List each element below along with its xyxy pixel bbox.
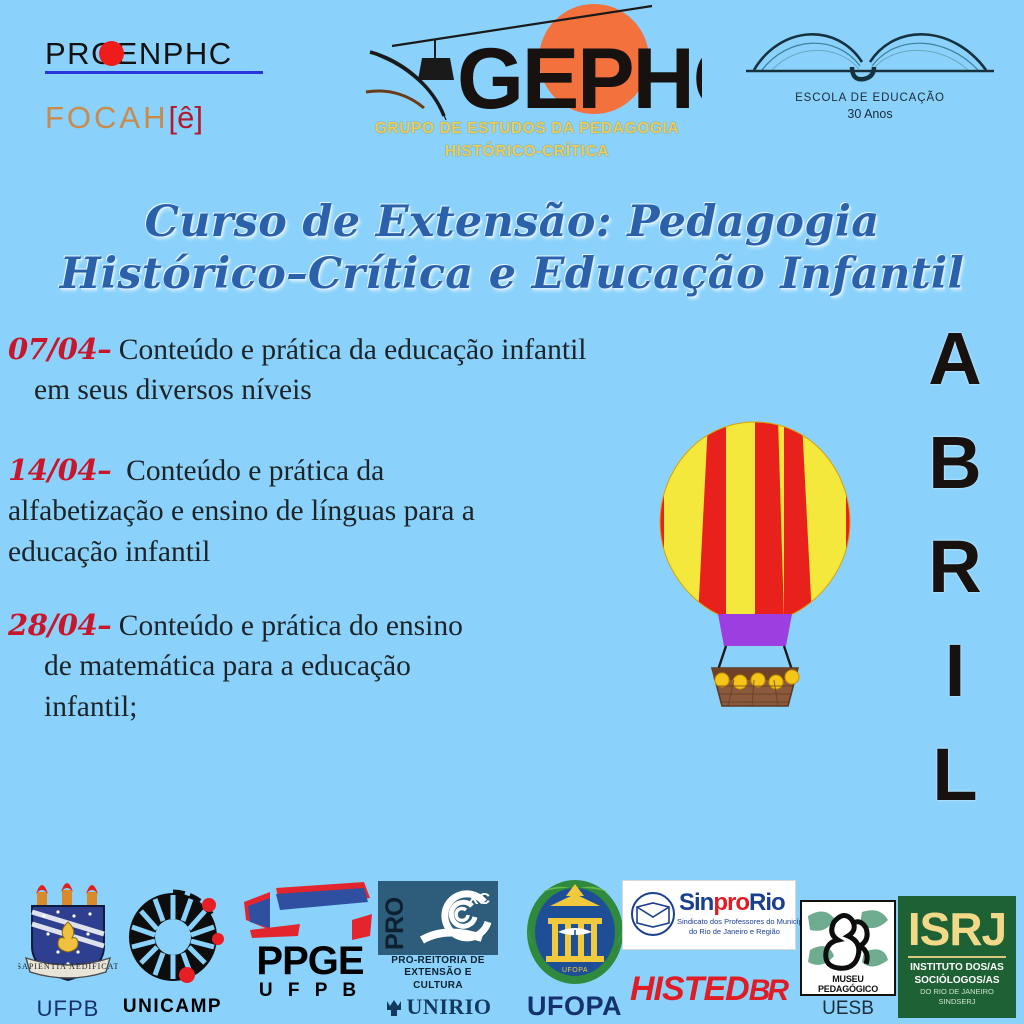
- ppge-subtitle: U F P B: [240, 980, 380, 1002]
- schedule-item: 28/04– Conteúdo e prática do ensino de m…: [8, 606, 708, 727]
- histed-wordmark: HISTEDBR: [630, 972, 790, 1006]
- proexc-caption-1: PRÓ-REITORIA DE: [378, 955, 498, 968]
- isrj-line4: SINDSERJ: [898, 997, 1016, 1007]
- sinpro-word-rio: Rio: [749, 889, 785, 916]
- schedule-text-line2: de matemática para a educação: [8, 646, 708, 686]
- schedule-text-line2: em seus diversos níveis: [8, 370, 708, 410]
- page-title: Curso de Extensão: Pedagogia Histórico–C…: [0, 196, 1024, 301]
- schedule-item: 07/04– Conteúdo e prática da educação in…: [8, 330, 708, 411]
- proexc-pro-text: PRO: [381, 897, 410, 950]
- logo-proexc-unirio: PRO XC PRÓ-REITORIA DE EXTENSÃO E CULTUR…: [378, 881, 498, 1021]
- sinpro-subtitle-2: do Rio de Janeiro e Região: [689, 927, 780, 936]
- escola-line1: ESCOLA DE EDUCAÇÃO: [740, 92, 1000, 104]
- ufpb-caption: UFPB: [18, 996, 118, 1022]
- histed-text: HISTED: [630, 970, 749, 1008]
- proenphc-text: PROENPHC: [45, 36, 233, 71]
- schedule-text-line3: educação infantil: [8, 532, 708, 572]
- unirio-crown-icon: [385, 997, 403, 1017]
- isrj-divider: [908, 956, 1006, 958]
- isrj-acronym: ISRJ: [898, 896, 1016, 952]
- poster-canvas: PROENPHC FOCAH[ê] GEPHC GRUPO DE ESTUDOS…: [0, 0, 1024, 1024]
- focah-bracket-open: [: [169, 100, 178, 135]
- schedule-date: 28/04–: [8, 608, 111, 642]
- proenphc-red-dot-icon: [99, 41, 124, 66]
- abril-letter-a: A: [928, 322, 981, 396]
- logo-histed: HISTEDBR: [630, 972, 790, 1006]
- sinpro-subtitle-1: Sindicato dos Professores do Município: [677, 917, 809, 926]
- museu-pedagogico-label: MUSEU PEDAGÓGICO: [802, 974, 894, 994]
- gephc-subtitle-line1: GRUPO DE ESTUDOS DA PEDAGOGIA: [352, 120, 702, 138]
- abril-letter-b: B: [928, 426, 981, 500]
- abril-letter-i: I: [945, 634, 966, 708]
- unirio-wordmark: UNIRIO: [378, 994, 498, 1020]
- logo-isrj: ISRJ INSTITUTO DOS/AS SOCIÓLOGOS/AS DO R…: [898, 896, 1016, 1018]
- focah-bracket-close: ]: [194, 100, 203, 135]
- sinpro-word-sin: Sin: [679, 889, 713, 916]
- unicamp-caption: UNICAMP: [110, 996, 235, 1018]
- museu-pedagogico-box: MUSEU PEDAGÓGICO: [800, 900, 896, 996]
- schedule-text-line1: Conteúdo e prática da: [126, 455, 384, 487]
- footer-logo-bar: SAPIENTIA AEDIFICAT UFPB: [0, 874, 1024, 1024]
- logo-unicamp: UNICAMP: [110, 885, 235, 1018]
- unirio-text: UNIRIO: [407, 994, 492, 1020]
- logo-ufpb: SAPIENTIA AEDIFICAT UFPB: [18, 872, 118, 1022]
- ufpb-crest-icon: SAPIENTIA AEDIFICAT: [18, 872, 118, 990]
- isrj-line2: SOCIÓLOGOS/AS: [898, 975, 1016, 988]
- month-label-abril: A B R I L: [900, 322, 1010, 842]
- schedule-item: 14/04– Conteúdo e prática da alfabetizaç…: [8, 451, 708, 572]
- hot-air-balloon-illustration: [650, 418, 860, 708]
- open-book-icon: [740, 14, 1000, 94]
- gephc-logo: GEPHC GRUPO DE ESTUDOS DA PEDAGOGIA HIST…: [352, 4, 702, 169]
- focah-text: FOCAH: [45, 100, 169, 135]
- ufopa-crest-icon: UFOPA: [520, 876, 630, 988]
- focah-logo: FOCAH[ê]: [45, 100, 270, 136]
- sinpro-book-icon: [629, 891, 677, 937]
- title-line-2: Histórico–Crítica e Educação Infantil: [0, 248, 1024, 300]
- logo-ppge-ufpb: PPGE U F P B: [240, 880, 380, 1002]
- isrj-line3: DO RIO DE JANEIRO: [898, 987, 1016, 997]
- title-line-1: Curso de Extensão: Pedagogia: [0, 196, 1024, 248]
- proexc-xc-text: XC: [468, 891, 490, 909]
- proexc-caption-2: EXTENSÃO E CULTURA: [378, 967, 498, 992]
- svg-text:UFOPA: UFOPA: [561, 967, 587, 974]
- abril-letter-l: L: [932, 738, 977, 812]
- ppge-ribbon-icon: [240, 880, 380, 942]
- schedule-date: 14/04–: [8, 453, 111, 487]
- schedule-text-line2: alfabetização e ensino de línguas para a: [8, 491, 708, 531]
- schedule-text-line3: infantil;: [8, 687, 708, 727]
- schedule-text-line1: Conteúdo e prática da educação infantil: [119, 334, 587, 366]
- isrj-line1: INSTITUTO DOS/AS: [898, 962, 1016, 975]
- isrj-box: ISRJ INSTITUTO DOS/AS SOCIÓLOGOS/AS DO R…: [898, 896, 1016, 1018]
- proenphc-underline: [45, 71, 263, 74]
- ufopa-caption: UFOPA: [512, 991, 637, 1022]
- svg-text:GEPHC: GEPHC: [457, 31, 702, 127]
- gephc-subtitle-line2: HISTÓRICO-CRÍTICA: [352, 143, 702, 161]
- ppge-title: PPGE: [240, 942, 380, 980]
- unicamp-icon: [121, 885, 225, 989]
- proenphc-logo: PROENPHC FOCAH[ê]: [45, 38, 270, 136]
- focah-bracket-letter: ê: [177, 100, 194, 135]
- proenphc-wordmark: PROENPHC: [45, 38, 270, 69]
- schedule-text-line1: Conteúdo e prática do ensino: [119, 610, 463, 642]
- sinpro-word-pro: pro: [713, 889, 749, 916]
- schedule-date: 07/04–: [8, 332, 111, 366]
- proexc-box: PRO XC: [378, 881, 498, 955]
- logo-uesb-museu-pedagogico: MUSEU PEDAGÓGICO UESB: [800, 900, 896, 1020]
- balloon-graphic: [650, 418, 860, 708]
- svg-text:SAPIENTIA AEDIFICAT: SAPIENTIA AEDIFICAT: [18, 962, 118, 971]
- schedule-list: 07/04– Conteúdo e prática da educação in…: [8, 330, 708, 751]
- abril-letter-r: R: [928, 530, 981, 604]
- escola-de-educacao-logo: ESCOLA DE EDUCAÇÃO 30 Anos: [740, 14, 1000, 126]
- logo-ufopa: UFOPA UFOPA: [512, 876, 637, 1022]
- uesb-caption: UESB: [800, 998, 896, 1020]
- sinpro-wordmark: SinproRio: [679, 889, 785, 917]
- escola-line2: 30 Anos: [740, 107, 1000, 121]
- logo-sinpro-rio: SinproRio Sindicato dos Professores do M…: [622, 880, 796, 950]
- histed-br-mark: BR: [749, 976, 786, 1006]
